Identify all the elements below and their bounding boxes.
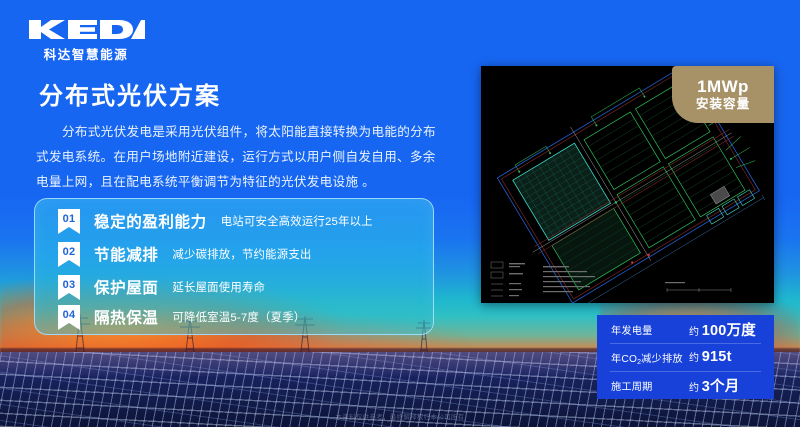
feature-desc: 可降低室温5-7度（夏季） (172, 309, 305, 325)
stat-label: 年CO2减少排放 (611, 350, 683, 365)
keda-wordmark-icon (27, 17, 145, 43)
feature-number: 01 (56, 213, 82, 225)
stat-row: 年CO2减少排放 约 915t (597, 343, 774, 371)
ribbon-shield-icon: 02 (56, 242, 82, 267)
slide-root: 科达智慧能源 分布式光伏方案 分布式光伏发电是采用光伏组件，将太阳能直接转换为电… (0, 0, 800, 427)
stat-label: 施工周期 (611, 378, 653, 393)
feature-number: 03 (56, 279, 82, 291)
feature-item[interactable]: 02 节能减排 减少碳排放，节约能源支出 (56, 241, 312, 267)
stat-value: 约 3个月 (689, 375, 739, 396)
feature-number: 02 (56, 246, 82, 258)
stat-value: 约 915t (689, 349, 732, 365)
feature-item[interactable]: 03 保护屋面 延长屋面使用寿命 (56, 274, 265, 300)
stat-row: 年发电量 约 100万度 (597, 315, 774, 343)
capacity-value: 1MWp (697, 77, 749, 97)
feature-title: 隔热保温 (94, 306, 158, 328)
feature-desc: 减少碳排放，节约能源支出 (172, 246, 311, 262)
stat-row: 施工周期 约 3个月 (597, 371, 774, 399)
footer-disclaimer: 本资料仅供参考，最终解释权归本公司所有 (0, 412, 800, 421)
brand-logo: 科达智慧能源 (27, 17, 147, 63)
feature-number: 04 (56, 309, 82, 321)
feature-title: 稳定的盈利能力 (94, 210, 207, 232)
logo-subtitle: 科达智慧能源 (27, 44, 145, 63)
stat-value: 约 100万度 (689, 319, 756, 340)
stat-label: 年发电量 (611, 322, 653, 337)
capacity-label: 安装容量 (696, 97, 750, 112)
ribbon-shield-icon: 03 (56, 275, 82, 300)
ribbon-shield-icon: 04 (56, 305, 82, 330)
feature-desc: 延长屋面使用寿命 (172, 279, 265, 295)
ribbon-shield-icon: 01 (56, 209, 82, 234)
capacity-badge: 1MWp 安装容量 (672, 66, 774, 123)
page-title: 分布式光伏方案 (39, 76, 221, 111)
feature-desc: 电站可安全高效运行25年以上 (221, 213, 373, 229)
feature-title: 节能减排 (94, 243, 158, 265)
cad-site-plan-panel[interactable]: 1MWp 安装容量 (481, 66, 774, 303)
feature-title: 保护屋面 (94, 276, 158, 298)
intro-paragraph: 分布式光伏发电是采用光伏组件，将太阳能直接转换为电能的分布式发电系统。在用户场地… (36, 120, 436, 196)
feature-list-card: 01 稳定的盈利能力 电站可安全高效运行25年以上 02 节能减排 减少碳排放，… (34, 198, 434, 335)
stats-panel: 年发电量 约 100万度 年CO2减少排放 约 915t 施工周期 约 3个月 (597, 315, 774, 399)
feature-item[interactable]: 04 隔热保温 可降低室温5-7度（夏季） (56, 304, 305, 330)
feature-item[interactable]: 01 稳定的盈利能力 电站可安全高效运行25年以上 (56, 208, 373, 234)
